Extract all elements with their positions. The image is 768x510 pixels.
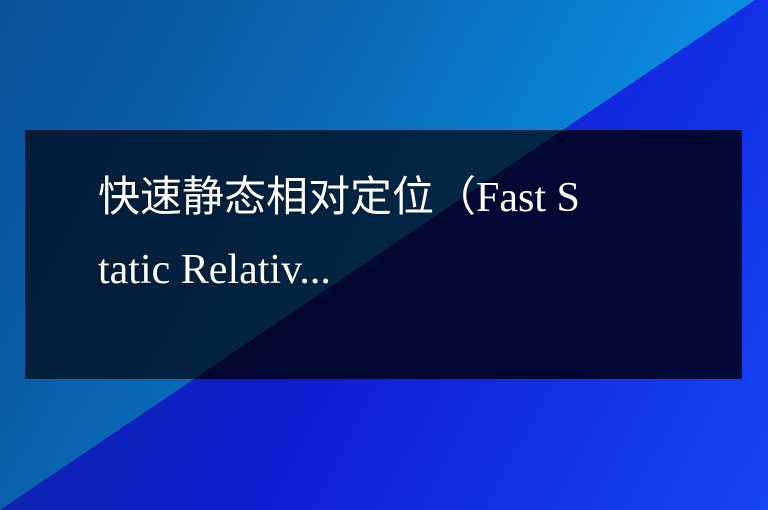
image-canvas: 快速静态相对定位（Fast S tatic Relativ...: [0, 0, 768, 510]
page-title: 快速静态相对定位（Fast S tatic Relativ...: [98, 162, 738, 306]
title-backdrop-plate: 快速静态相对定位（Fast S tatic Relativ...: [25, 130, 742, 379]
